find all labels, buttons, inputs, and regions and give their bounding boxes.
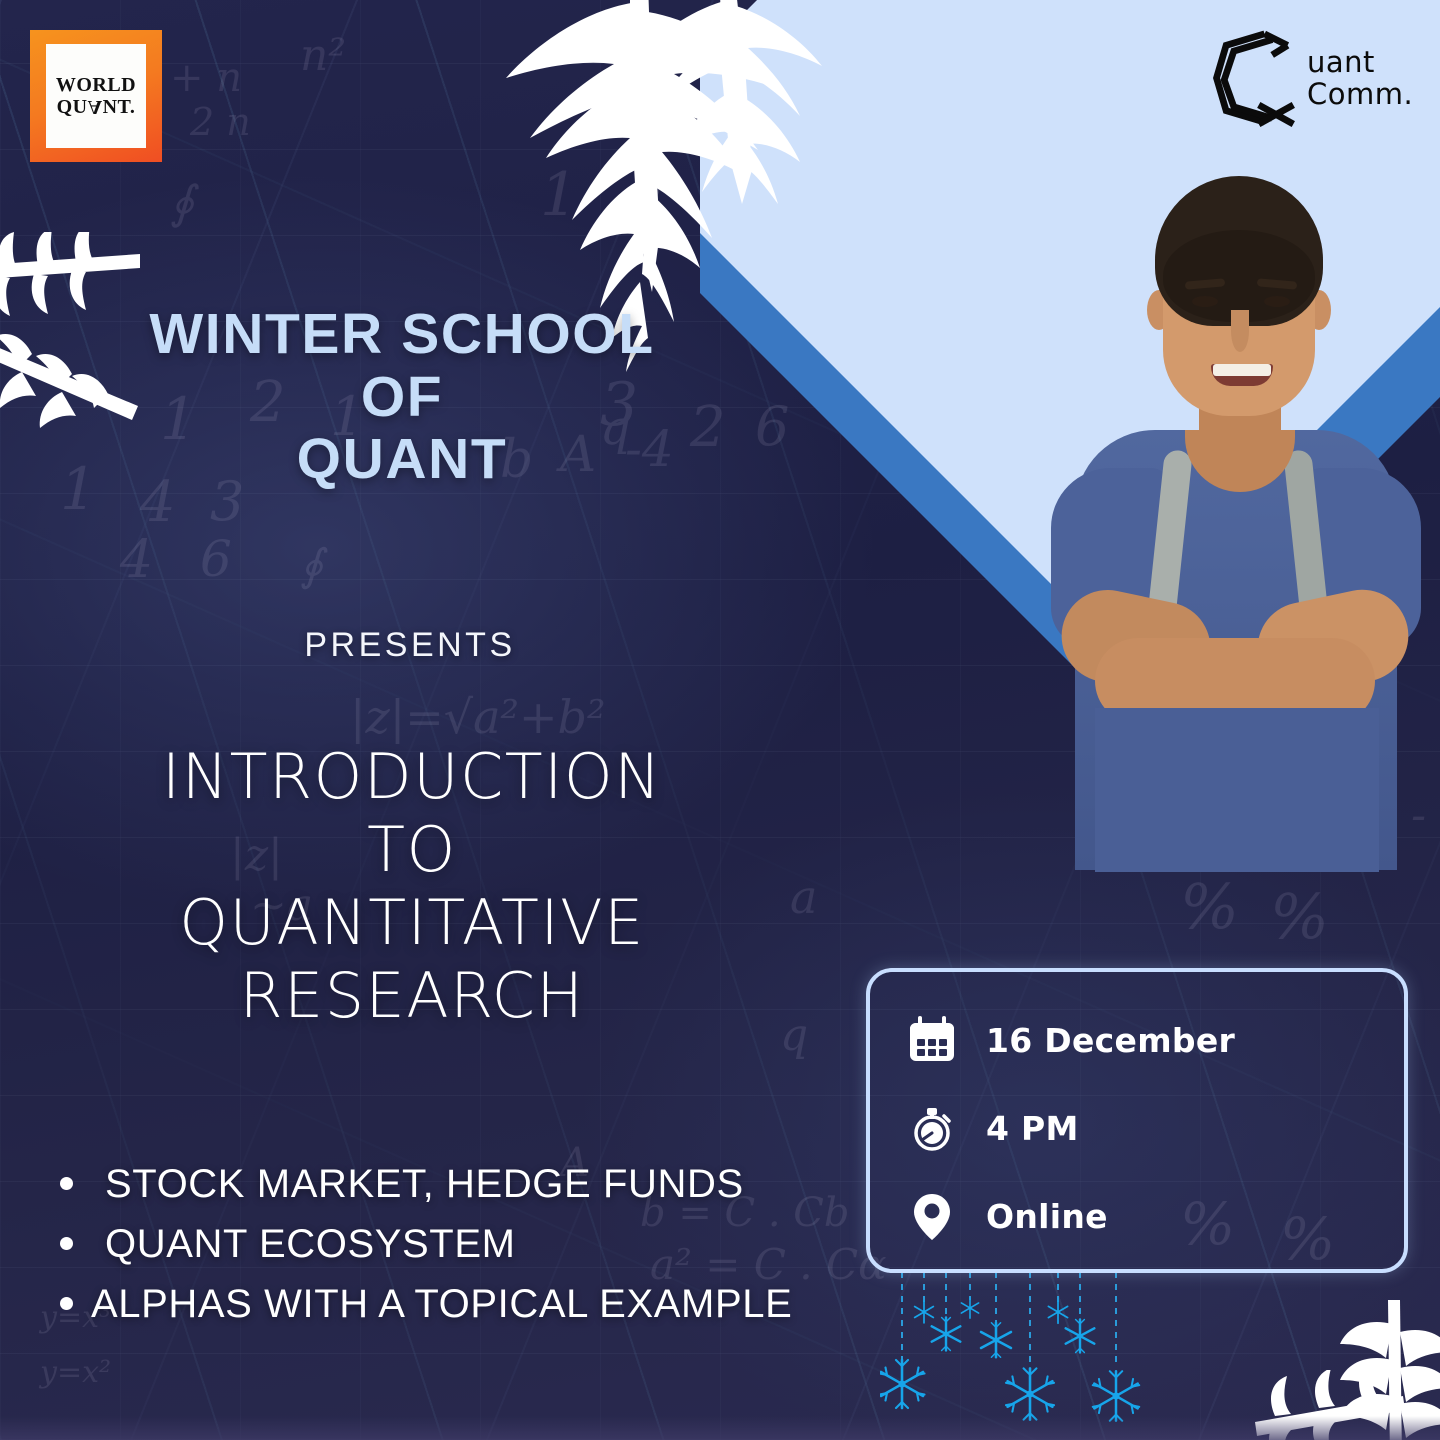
quant-comm-logo[interactable]: uant Comm. xyxy=(1205,18,1430,138)
worldquant-logo[interactable]: WORLD QUANT. xyxy=(30,30,162,162)
stopwatch-icon xyxy=(904,1100,960,1156)
bullet-dot-icon xyxy=(60,1237,73,1250)
page-title-line4: RESEARCH xyxy=(44,959,780,1032)
calendar-icon xyxy=(904,1012,960,1068)
topic-label: STOCK MARKET, HEDGE FUNDS xyxy=(105,1162,744,1207)
topic-label: QUANT ECOSYSTEM xyxy=(105,1222,516,1267)
quant-comm-wordmark: uant Comm. xyxy=(1307,46,1413,111)
speaker-photo xyxy=(1035,168,1435,868)
list-item: STOCK MARKET, HEDGE FUNDS xyxy=(60,1162,880,1207)
speaker-eye-right xyxy=(1264,296,1290,307)
bullet-dot-icon xyxy=(60,1297,73,1310)
list-item: ALPHAS WITH A TOPICAL EXAMPLE xyxy=(60,1282,880,1327)
worldquant-logo-line2: QUANT. xyxy=(57,97,136,117)
worldquant-logo-a-flipped: A xyxy=(88,97,103,117)
event-series-title: WINTER SCHOOL OF QUANT xyxy=(52,303,752,491)
detail-row-time: 4 PM xyxy=(904,1088,1404,1168)
worldquant-logo-line1: WORLD xyxy=(56,75,136,95)
presents-label: PRESENTS xyxy=(52,626,768,665)
worldquant-logo-inner: WORLD QUANT. xyxy=(46,44,146,148)
location-pin-icon xyxy=(904,1188,960,1244)
worldquant-logo-nt: NT. xyxy=(103,96,136,118)
page-title: INTRODUCTION TO QUANTITATIVE RESEARCH xyxy=(44,740,780,1033)
speaker-mouth xyxy=(1211,364,1273,386)
event-location: Online xyxy=(986,1197,1108,1236)
event-time: 4 PM xyxy=(986,1109,1079,1148)
speaker-nose xyxy=(1231,310,1249,352)
bottom-gradient-band xyxy=(0,1416,1440,1440)
quant-comm-mark-icon xyxy=(1205,24,1301,132)
topics-list: STOCK MARKET, HEDGE FUNDS QUANT ECOSYSTE… xyxy=(60,1162,880,1342)
detail-row-location: Online xyxy=(904,1176,1404,1256)
quant-comm-line1: uant xyxy=(1307,46,1413,78)
list-item: QUANT ECOSYSTEM xyxy=(60,1222,880,1267)
page-title-line2: TO xyxy=(44,813,780,886)
event-details-card: 16 December 4 PM xyxy=(866,968,1408,1273)
worldquant-logo-qu: QU xyxy=(57,96,88,118)
event-series-line2: OF xyxy=(52,366,752,429)
event-series-line1: WINTER SCHOOL xyxy=(149,302,654,366)
event-poster: n² + n 2 n 1 3 2 1 1 2 1 3 2 6 b A -4 1 … xyxy=(0,0,1440,1440)
page-title-line1: INTRODUCTION xyxy=(44,740,780,813)
detail-row-date: 16 December xyxy=(904,1000,1404,1080)
speaker-torso-lower xyxy=(1095,708,1379,872)
event-series-line3: QUANT xyxy=(52,428,752,491)
event-date: 16 December xyxy=(986,1021,1235,1060)
topic-label: ALPHAS WITH A TOPICAL EXAMPLE xyxy=(91,1282,792,1327)
page-title-line3: QUANTITATIVE xyxy=(44,886,780,959)
bullet-dot-icon xyxy=(60,1177,73,1190)
speaker-teeth xyxy=(1213,364,1271,376)
speaker-eye-left xyxy=(1192,296,1218,307)
speaker-hair xyxy=(1155,176,1323,326)
quant-comm-line2: Comm. xyxy=(1307,78,1413,110)
